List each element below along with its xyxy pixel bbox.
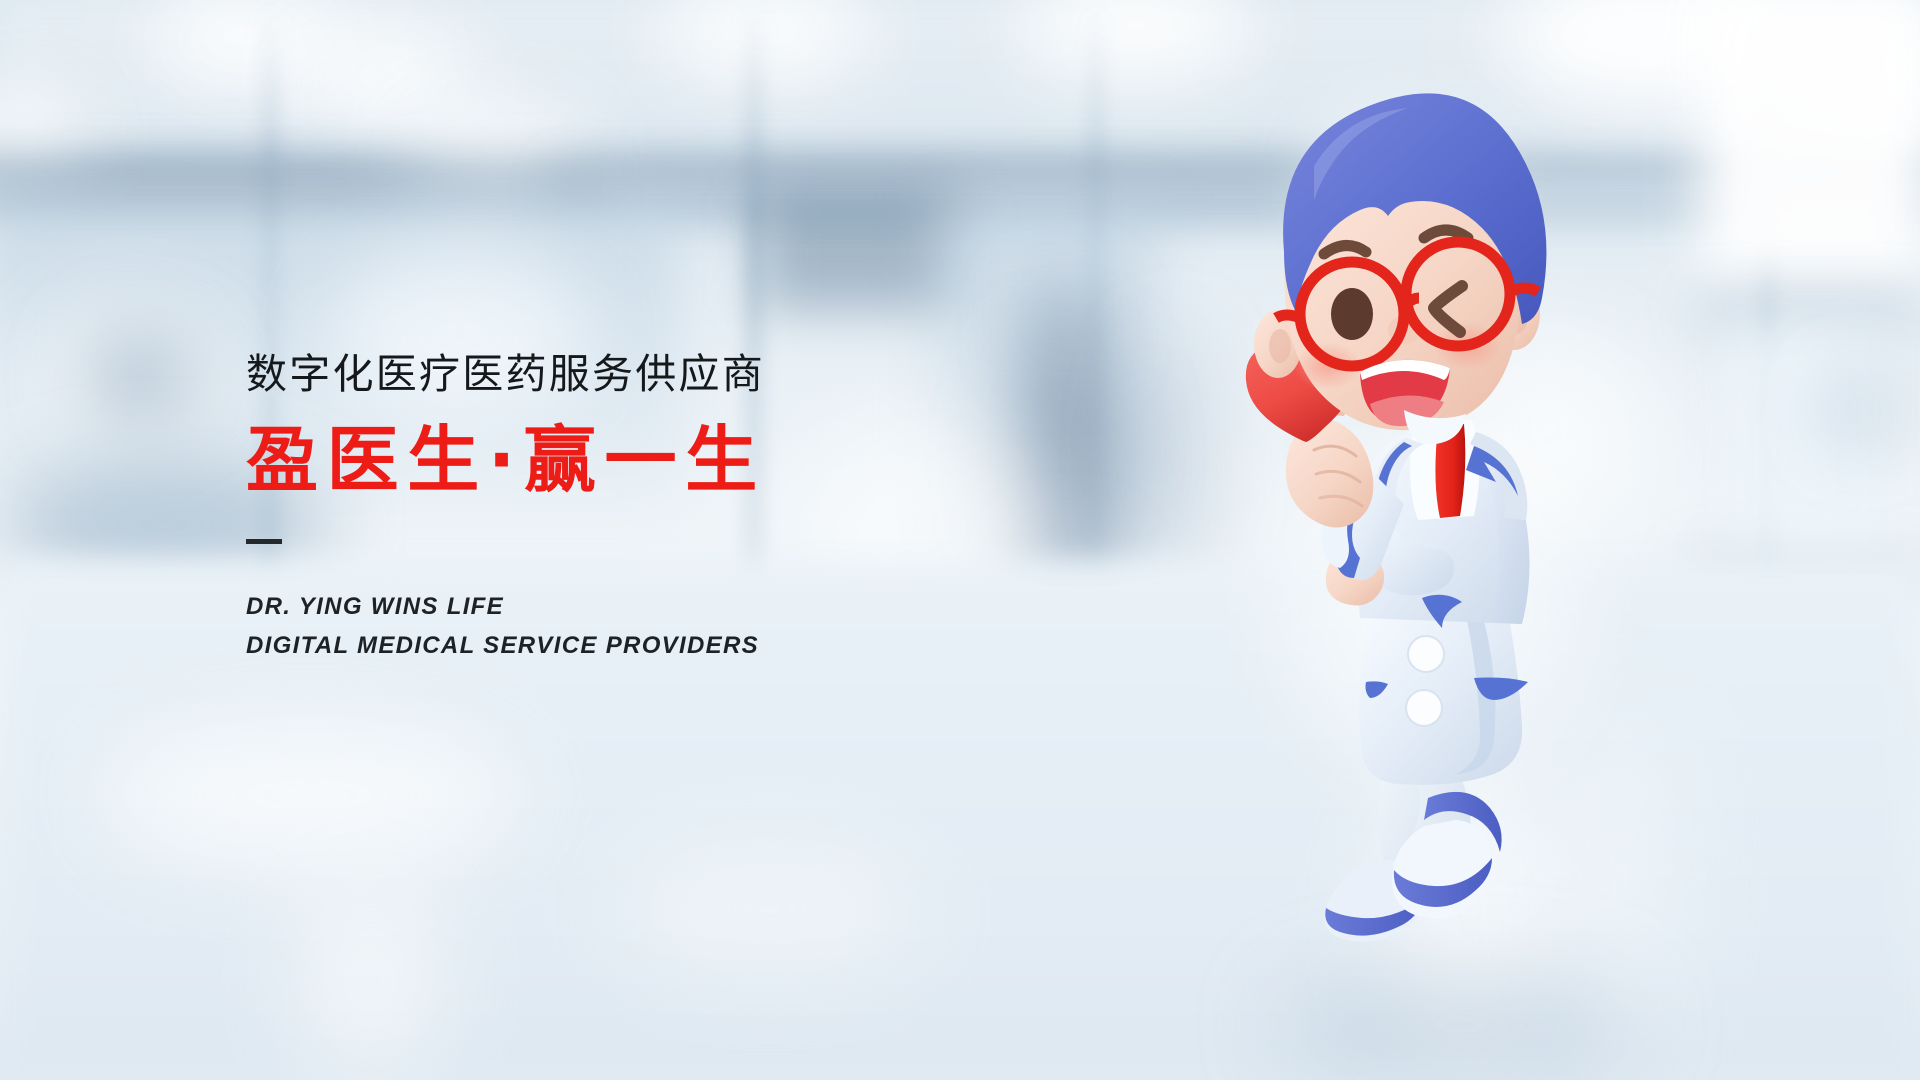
right-shelf-1: [1700, 300, 1920, 318]
hero-copy: 数字化医疗医药服务供应商 盈医生·赢一生 DR. YING WINS LIFE …: [246, 352, 766, 665]
person-silhouette-body: [1012, 340, 1122, 580]
hero-english-line-2: DIGITAL MEDICAL SERVICE PROVIDERS: [246, 627, 766, 666]
person-silhouette-2: [1140, 330, 1210, 590]
mascot-coat-button-2: [1406, 690, 1442, 726]
left-window-glare-1: [30, 300, 230, 450]
mascot-ear-left-inner: [1269, 329, 1291, 363]
floor-reflection-2: [300, 880, 440, 1080]
mascot-doctor-illustration: [1218, 46, 1648, 1036]
hero-divider: [246, 539, 282, 544]
hero-kicker: 数字化医疗医药服务供应商: [246, 352, 766, 397]
hero-english-block: DR. YING WINS LIFE DIGITAL MEDICAL SERVI…: [246, 588, 766, 666]
floor-reflection-1: [100, 730, 520, 860]
mullion-3: [1088, 0, 1104, 640]
right-dark-detail-1: [1836, 380, 1882, 440]
hero-headline: 盈医生·赢一生: [246, 423, 766, 499]
hero-banner: 数字化医疗医药服务供应商 盈医生·赢一生 DR. YING WINS LIFE …: [0, 0, 1920, 1080]
left-dark-object: [80, 330, 200, 420]
floor-reflection-5: [620, 840, 920, 980]
mascot-eye-open: [1331, 288, 1373, 340]
center-panel: [930, 200, 1160, 620]
person-silhouette-head: [1034, 290, 1096, 360]
right-cabinet: [1730, 330, 1890, 550]
mascot-coat-button-1: [1408, 636, 1444, 672]
hero-english-line-1: DR. YING WINS LIFE: [246, 588, 766, 627]
